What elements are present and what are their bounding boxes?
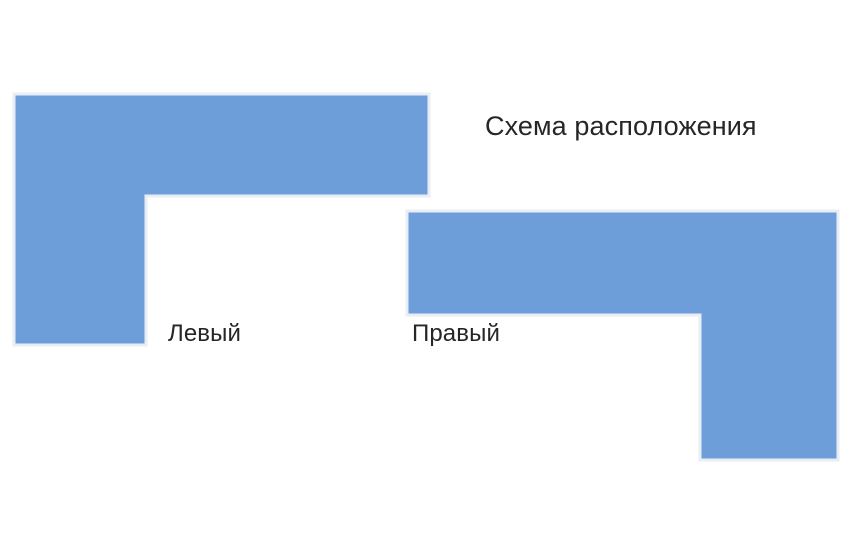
shape-label-left: Левый — [168, 322, 241, 346]
shape-label-right: Правый — [412, 322, 500, 346]
diagram-canvas — [0, 0, 866, 540]
layout-scheme-diagram: Схема расположения Левый Правый — [0, 0, 866, 540]
page-title: Схема расположения — [485, 113, 757, 140]
